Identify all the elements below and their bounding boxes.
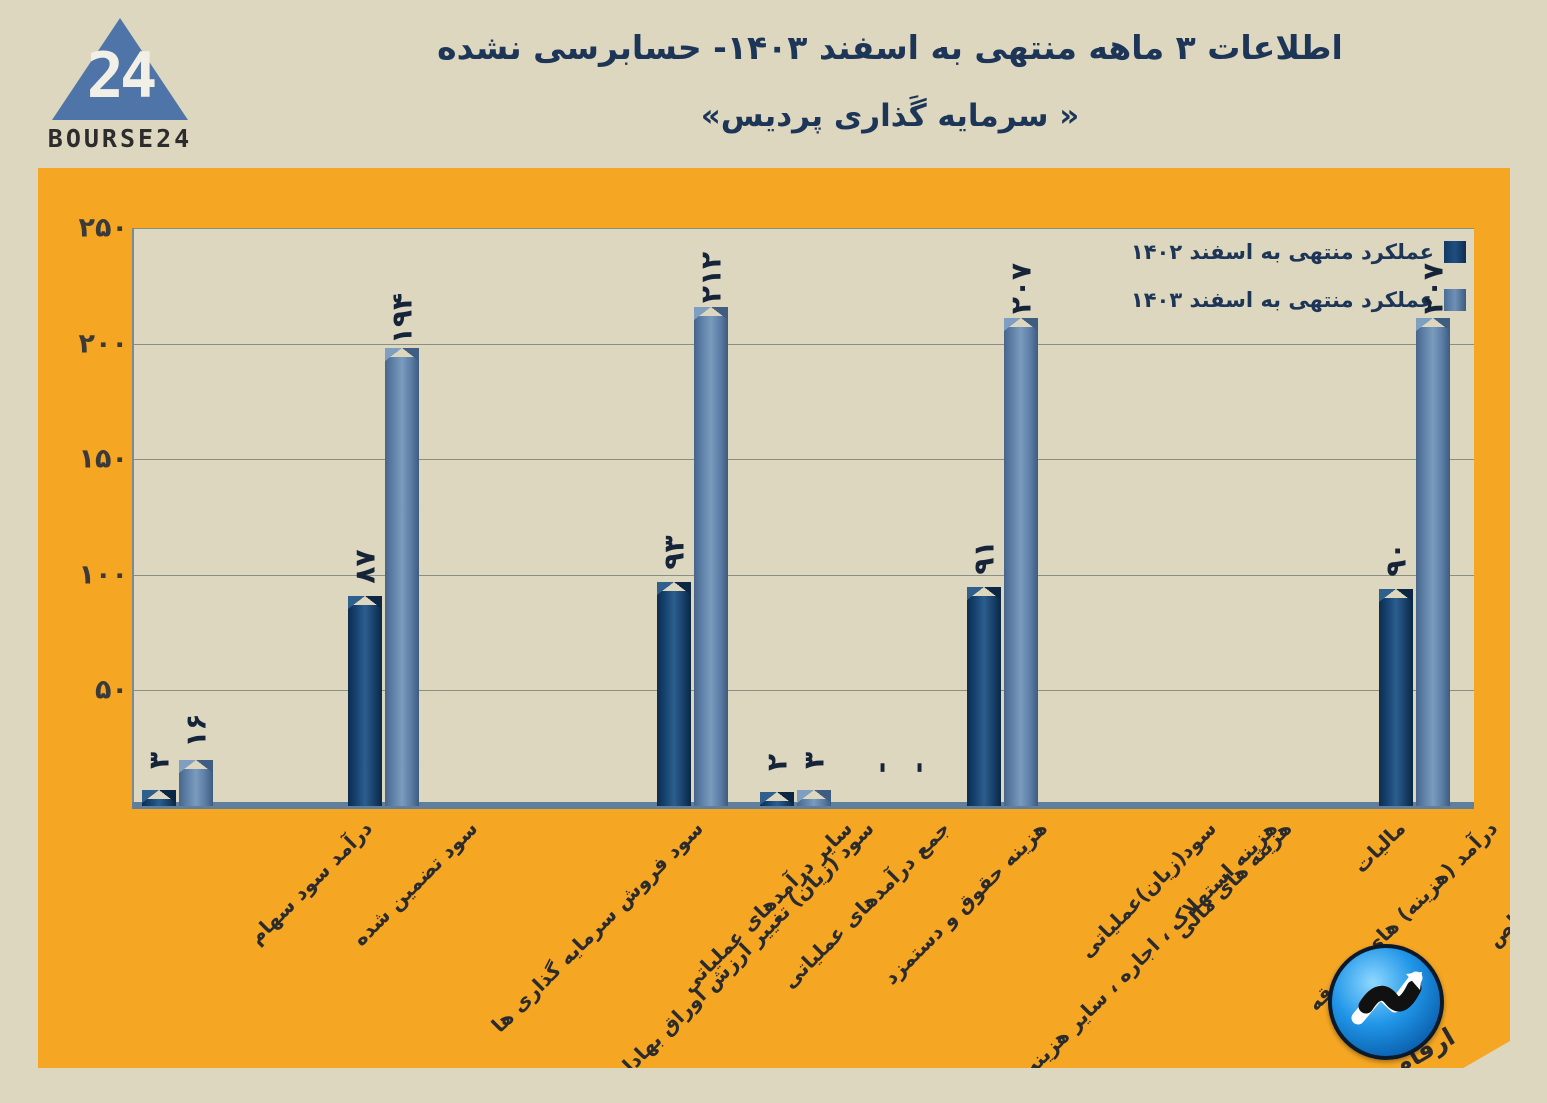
bar[interactable] <box>385 357 419 806</box>
bar[interactable] <box>1379 598 1413 806</box>
logo-wordmark: BOURSE24 <box>30 124 210 153</box>
x-axis-labels: درآمد سود سهامسود تضمین شدهسود فروش سرما… <box>132 816 1474 1066</box>
bar[interactable] <box>1416 327 1450 806</box>
bar-cap <box>1004 318 1038 331</box>
bar-body <box>1379 598 1413 806</box>
bar[interactable] <box>657 591 691 806</box>
bar-group: ۸۷۱۹۴ <box>338 228 441 806</box>
bar-body <box>657 591 691 806</box>
bar-body <box>348 605 382 806</box>
bar-value-label: ۳ <box>798 752 831 769</box>
bar-group: ۹۱۲۰۷ <box>957 228 1060 806</box>
bar-group <box>1163 228 1266 806</box>
trending-up-icon <box>1328 944 1444 1060</box>
y-axis-tick-label: ۱۵۰ <box>38 444 128 475</box>
bar-group: ۳۱۶ <box>132 228 235 806</box>
bar-value-label: ۲۰۷ <box>1004 263 1037 314</box>
bar-body <box>1416 327 1450 806</box>
bar-value-label: ۲۱۲ <box>695 252 728 303</box>
bar-group: ۹۰۲۰۷ <box>1369 228 1472 806</box>
y-axis-tick-label: ۲۰۰ <box>38 328 128 359</box>
bar-value-label: ۱۶ <box>180 713 213 747</box>
bar-cap <box>694 307 728 320</box>
bar-cap <box>797 790 831 803</box>
bar-value-label: ۳ <box>143 752 176 769</box>
bar-body <box>179 769 213 806</box>
bars-layer: ۳۱۶۸۷۱۹۴۹۳۲۱۲۲۳--۹۱۲۰۷۹۰۲۰۷ <box>132 228 1472 806</box>
bar-value-label: ۹۰ <box>1379 542 1412 576</box>
bar-group <box>1060 228 1163 806</box>
bar[interactable] <box>797 799 831 806</box>
bar[interactable] <box>694 316 728 806</box>
logo-number: 24 <box>52 28 188 122</box>
bar-group: ۹۳۲۱۲ <box>647 228 750 806</box>
bar[interactable] <box>348 605 382 806</box>
bar-value-label: - <box>864 762 897 774</box>
bar-group <box>235 228 338 806</box>
bar-value-label: ۲۰۷ <box>1416 263 1449 314</box>
bar-cap <box>348 596 382 609</box>
bourse24-logo: 24 BOURSE24 <box>30 18 210 158</box>
bar-cap <box>1379 589 1413 602</box>
bar-value-label: ۹۳ <box>658 535 691 569</box>
bar-value-label: - <box>901 762 934 774</box>
bar-value-label: ۲ <box>761 754 794 771</box>
x-axis-label: سایر درآمدهای عملیاتی <box>676 816 857 997</box>
bar-cap <box>760 792 794 805</box>
bar[interactable] <box>1004 327 1038 806</box>
bar-group <box>441 228 544 806</box>
page-subtitle: « سرمایه گَذاری پردیس» <box>300 98 1480 134</box>
chart-page: 24 BOURSE24 اطلاعات ۳ ماهه منتهی به اسفن… <box>0 0 1547 1103</box>
bar-group <box>1266 228 1369 806</box>
bar[interactable] <box>179 769 213 806</box>
bar[interactable] <box>967 596 1001 806</box>
bar-group: -- <box>854 228 957 806</box>
bar[interactable] <box>142 799 176 806</box>
bar-group <box>544 228 647 806</box>
page-title: اطلاعات ۳ ماهه منتهی به اسفند ۱۴۰۳- حساب… <box>300 28 1480 67</box>
bar-body <box>694 316 728 806</box>
chart-card: عملکرد منتهی به اسفند ۱۴۰۲عملکرد منتهی ب… <box>38 168 1510 1068</box>
page-header: 24 BOURSE24 اطلاعات ۳ ماهه منتهی به اسفن… <box>0 0 1547 168</box>
bar-cap <box>385 348 419 361</box>
y-axis-tick-label: ۱۰۰ <box>38 559 128 590</box>
bar-cap <box>657 582 691 595</box>
bar-cap <box>1416 318 1450 331</box>
bar-value-label: ۱۹۴ <box>386 293 419 344</box>
bar-body <box>385 357 419 806</box>
bar-cap <box>142 790 176 803</box>
bar-body <box>1004 327 1038 806</box>
y-axis-tick-label: ۲۵۰ <box>38 213 128 244</box>
bar-body <box>967 596 1001 806</box>
y-axis-tick-label: ۵۰ <box>38 675 128 706</box>
bar-group: ۲۳ <box>750 228 853 806</box>
x-axis-label: مالیات <box>1348 816 1410 878</box>
bar-value-label: ۹۱ <box>967 540 1000 574</box>
bar-value-label: ۸۷ <box>349 549 382 583</box>
bar[interactable] <box>760 801 794 806</box>
bar-cap <box>967 587 1001 600</box>
bar-cap <box>179 760 213 773</box>
x-axis-label: هزینه حقوق و دستمزد <box>879 816 1052 989</box>
